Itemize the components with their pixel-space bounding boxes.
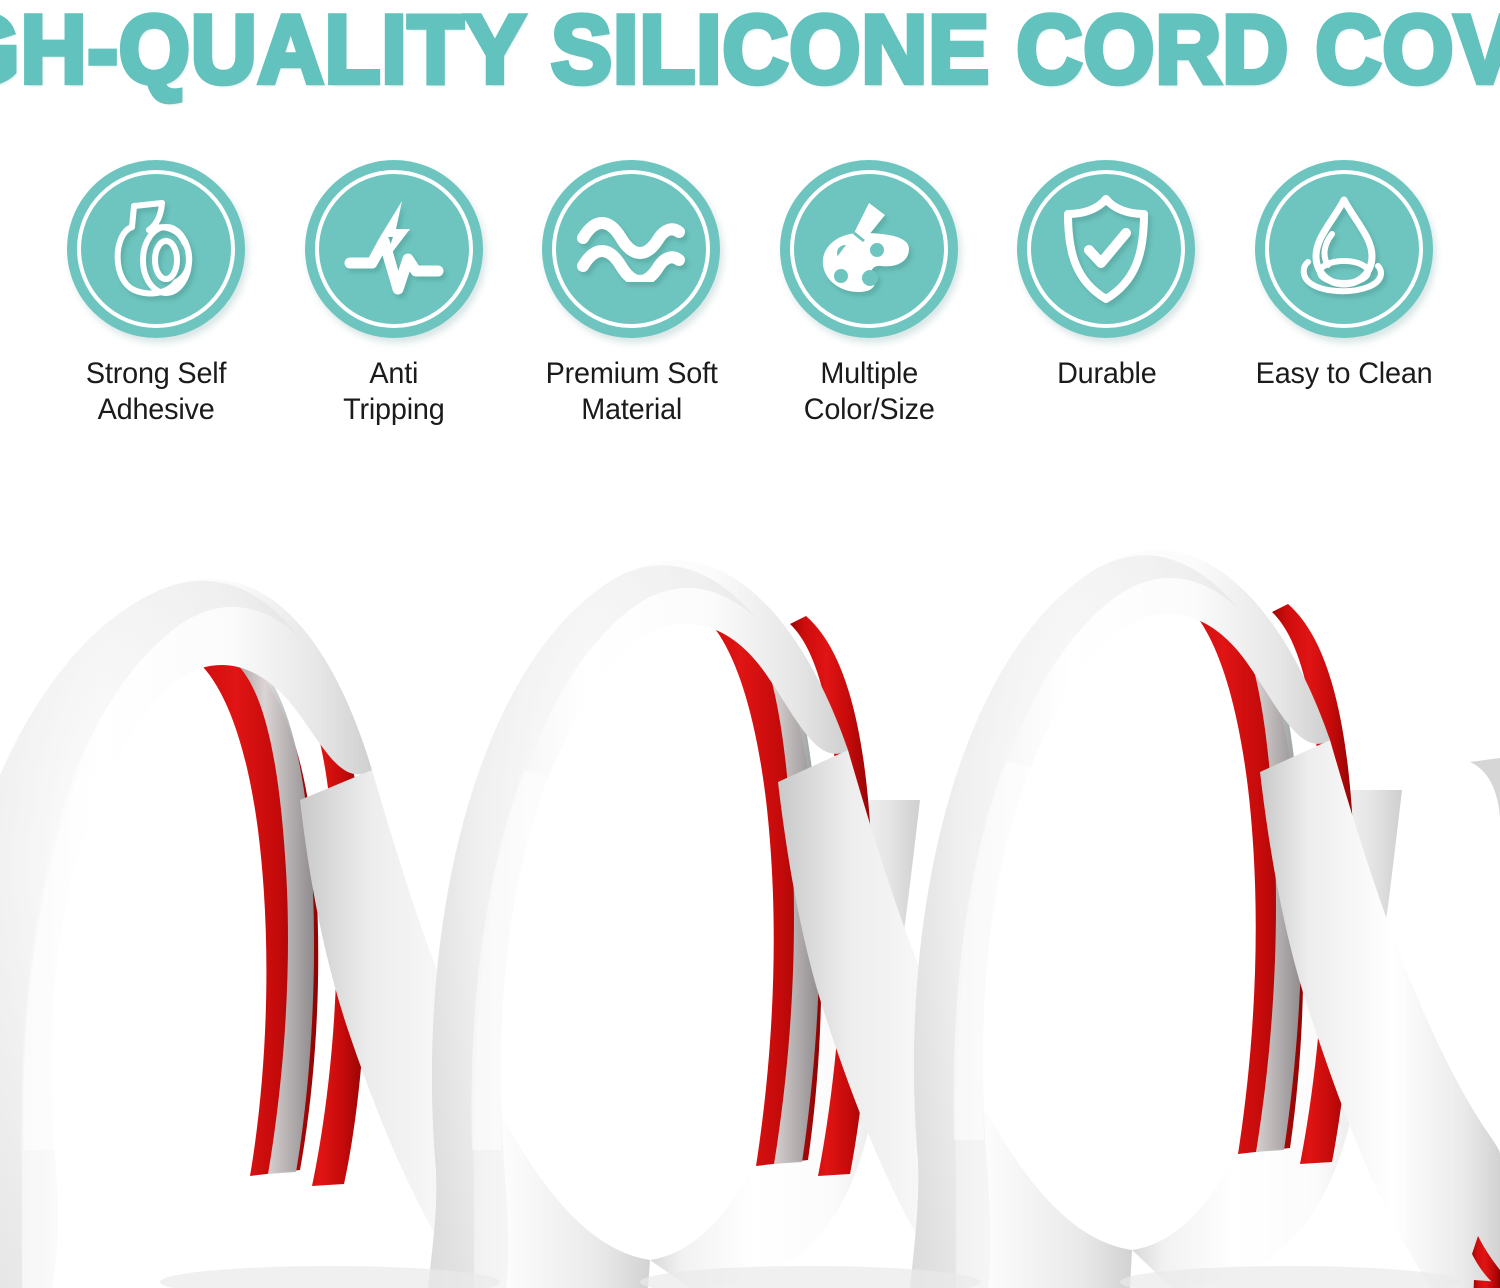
product-image-silicone-cord-cover bbox=[0, 470, 1500, 1288]
feature-badge bbox=[1255, 160, 1433, 338]
feature-caption-line1: Premium Soft bbox=[545, 356, 717, 392]
feature-badge bbox=[542, 160, 720, 338]
wavy-lines-icon bbox=[575, 216, 687, 282]
feature-badge bbox=[1017, 160, 1195, 338]
product-illustration bbox=[0, 470, 1500, 1288]
feature-badge bbox=[305, 160, 483, 338]
feature-item-strong-self-adhesive: Strong Self Adhesive bbox=[56, 160, 256, 428]
tape-roll-icon bbox=[104, 194, 208, 304]
water-drop-icon bbox=[1288, 194, 1400, 304]
feature-caption-line1: Multiple bbox=[803, 356, 934, 392]
feature-list: Strong Self Adhesive Anti Tripping bbox=[0, 160, 1500, 450]
feature-item-multiple-color-size: Multiple Color/Size bbox=[769, 160, 969, 428]
feature-item-easy-to-clean: Easy to Clean bbox=[1244, 160, 1444, 392]
feature-caption-line2: Material bbox=[545, 392, 717, 428]
header-banner: HIGH-QUALITY SILICONE CORD COVER bbox=[0, 0, 1500, 100]
feature-caption: Strong Self Adhesive bbox=[86, 356, 226, 428]
lightning-pulse-icon bbox=[340, 197, 448, 301]
shield-check-icon bbox=[1058, 193, 1154, 305]
feature-caption: Multiple Color/Size bbox=[803, 356, 934, 428]
feature-item-premium-soft-material: Premium Soft Material bbox=[531, 160, 731, 428]
product-infographic-page: HIGH-QUALITY SILICONE CORD COVER bbox=[0, 0, 1500, 1288]
feature-item-anti-tripping: Anti Tripping bbox=[294, 160, 494, 428]
palette-brush-icon bbox=[815, 195, 923, 303]
feature-badge bbox=[67, 160, 245, 338]
feature-caption: Durable bbox=[1057, 356, 1157, 392]
feature-caption-line1: Easy to Clean bbox=[1256, 356, 1433, 392]
feature-caption-line2: Adhesive bbox=[86, 392, 226, 428]
feature-caption-line2: Color/Size bbox=[803, 392, 934, 428]
feature-caption-line2: Tripping bbox=[343, 392, 444, 428]
feature-caption: Anti Tripping bbox=[343, 356, 444, 428]
feature-caption: Premium Soft Material bbox=[545, 356, 717, 428]
feature-badge bbox=[780, 160, 958, 338]
feature-caption: Easy to Clean bbox=[1256, 356, 1433, 392]
feature-caption-line1: Durable bbox=[1057, 356, 1157, 392]
feature-item-durable: Durable bbox=[1006, 160, 1206, 392]
feature-caption-line1: Anti bbox=[343, 356, 444, 392]
page-title: HIGH-QUALITY SILICONE CORD COVER bbox=[0, 2, 1500, 98]
feature-caption-line1: Strong Self bbox=[86, 356, 226, 392]
